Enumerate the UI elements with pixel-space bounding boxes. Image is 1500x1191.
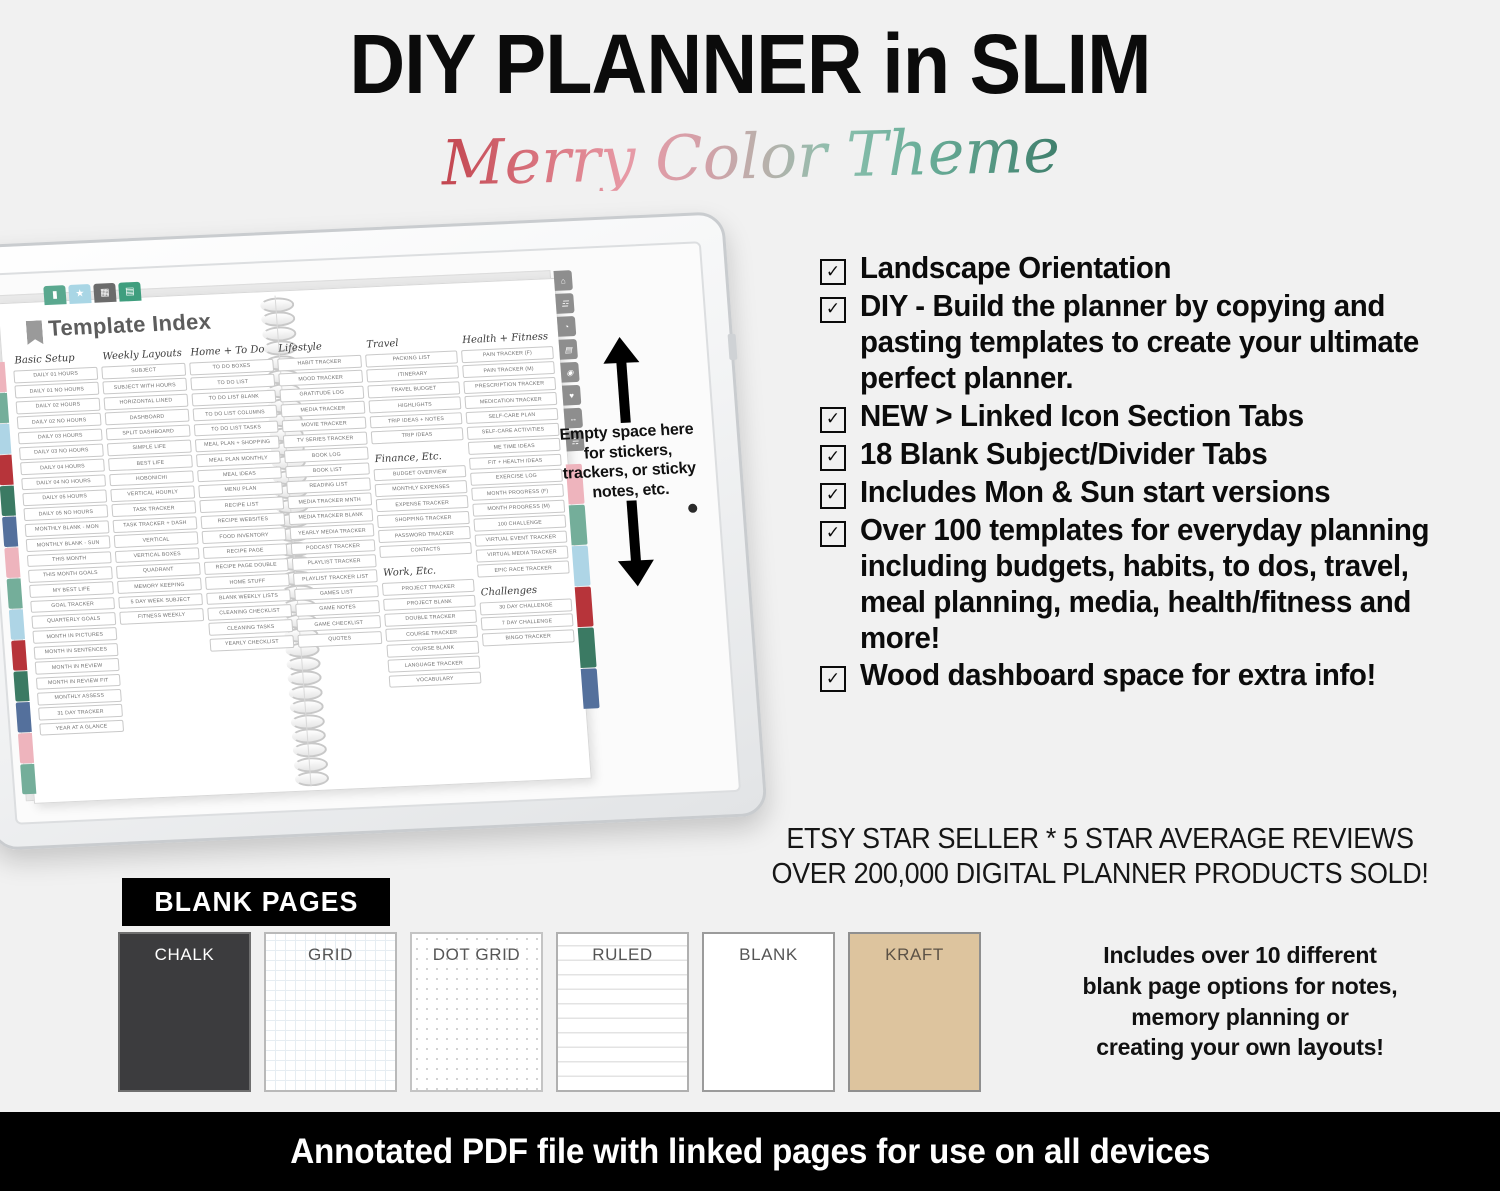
feature-row: ✓Wood dashboard space for extra info! xyxy=(820,657,1490,693)
index-column-heading: Work, Etc. xyxy=(383,564,474,579)
template-link[interactable]: PLAYLIST TRACKER xyxy=(292,554,377,571)
star-icon[interactable]: ★ xyxy=(68,284,91,304)
divider-tab[interactable] xyxy=(4,547,20,578)
template-link[interactable]: MY BEST LIFE xyxy=(29,581,114,598)
template-link[interactable]: TO DO BOXES xyxy=(189,359,274,376)
template-link[interactable]: 31 DAY TRACKER xyxy=(38,704,123,721)
feature-text: DIY - Build the planner by copying and p… xyxy=(860,288,1459,396)
tablet-button xyxy=(728,334,738,360)
coil-ring xyxy=(260,297,295,314)
divider-tab[interactable] xyxy=(0,424,11,455)
arrow-down-icon xyxy=(627,500,642,564)
template-link[interactable]: MEDIA TRACKER BLANK xyxy=(288,508,373,525)
template-link[interactable]: SHOPPING TRACKER xyxy=(377,511,470,528)
template-link[interactable]: MONTH PROGRESS (M) xyxy=(472,499,565,516)
blank-page-samples: CHALKGRIDDOT GRIDRULEDBLANKKRAFT xyxy=(118,932,981,1092)
feature-text: NEW > Linked Icon Section Tabs xyxy=(860,398,1304,434)
divider-tab[interactable] xyxy=(0,455,14,486)
template-link[interactable]: DAILY 04 HOURS xyxy=(20,459,105,476)
template-link[interactable]: PACKING LIST xyxy=(365,350,458,367)
calendar-icon[interactable]: ▤ xyxy=(118,282,141,302)
template-link[interactable]: ME TIME IDEAS xyxy=(468,438,561,455)
blank-page-label: DOT GRID xyxy=(412,945,541,965)
template-link[interactable]: THIS MONTH xyxy=(27,551,112,568)
template-link[interactable]: VOCABULARY xyxy=(389,671,482,688)
template-link[interactable]: DAILY 03 NO HOURS xyxy=(19,443,104,460)
template-link[interactable]: READING LIST xyxy=(286,477,371,494)
template-link[interactable]: HIGHLIGHTS xyxy=(368,396,461,413)
template-link[interactable]: EXERCISE LOG xyxy=(470,469,563,486)
page-subtitle: Merry Color Theme xyxy=(440,120,1060,195)
template-link[interactable]: THIS MONTH GOALS xyxy=(28,566,113,583)
template-link[interactable]: RECIPE LIST xyxy=(199,497,284,514)
bookmark-icon xyxy=(26,320,44,345)
divider-tab[interactable] xyxy=(18,733,34,764)
feature-row: ✓NEW > Linked Icon Section Tabs xyxy=(820,398,1490,434)
template-link[interactable]: PAIN TRACKER (F) xyxy=(461,346,554,363)
index-column-heading: Finance, Etc. xyxy=(374,450,465,465)
template-link[interactable]: TO DO LIST xyxy=(190,374,275,391)
template-link[interactable]: MENU PLAN xyxy=(198,481,283,498)
template-link[interactable]: DAILY 01 HOURS xyxy=(13,367,98,384)
template-link[interactable]: VERTICAL HOURLY xyxy=(110,485,195,502)
template-link[interactable]: MEDICATION TRACKER xyxy=(464,392,557,409)
index-column-heading: Travel xyxy=(366,335,457,350)
blank-pages-note-line: memory planning or xyxy=(990,1002,1490,1033)
template-link[interactable]: LANGUAGE TRACKER xyxy=(388,656,481,673)
divider-tab[interactable] xyxy=(9,609,25,640)
blank-pages-note: Includes over 10 differentblank page opt… xyxy=(990,940,1490,1063)
blank-pages-note-line: blank page options for notes, xyxy=(990,971,1490,1002)
index-title: Template Index xyxy=(47,309,212,342)
checkbox-checked-icon[interactable]: ✓ xyxy=(820,259,846,285)
feature-row: ✓Includes Mon & Sun start versions xyxy=(820,474,1490,510)
index-column-heading: Challenges xyxy=(480,583,571,598)
template-link[interactable]: VERTICAL BOXES xyxy=(115,547,200,564)
blank-page-label: RULED xyxy=(558,945,687,965)
template-link[interactable]: PASSWORD TRACKER xyxy=(378,526,471,543)
template-link[interactable]: PLAYLIST TRACKER LIST xyxy=(293,569,378,586)
checkbox-checked-icon[interactable]: ✓ xyxy=(820,483,846,509)
template-link[interactable]: CONTACTS xyxy=(379,541,472,558)
blank-pages-note-line: Includes over 10 different xyxy=(990,940,1490,971)
template-link[interactable]: MEDIA TRACKER MNTH xyxy=(287,493,372,510)
blank-page-card: CHALK xyxy=(118,932,251,1092)
template-link[interactable]: DAILY 04 NO HOURS xyxy=(21,474,106,491)
template-link[interactable]: QUOTES xyxy=(297,631,382,648)
page-title: DIY PLANNER in SLIM xyxy=(60,0,1440,106)
divider-tab[interactable] xyxy=(575,586,594,627)
template-link[interactable]: QUARTERLY GOALS xyxy=(31,612,116,629)
divider-tab[interactable] xyxy=(20,764,36,795)
template-link[interactable]: RECIPE WEBSITES xyxy=(200,512,285,529)
template-link[interactable]: MEDIA TRACKER xyxy=(281,401,366,418)
linked-icon-tabs[interactable]: ▮★▦▤ xyxy=(43,282,141,305)
coil-ring xyxy=(262,325,297,342)
etsy-line-1: ETSY STAR SELLER * 5 STAR AVERAGE REVIEW… xyxy=(728,822,1472,857)
feature-row: ✓DIY - Build the planner by copying and … xyxy=(820,288,1490,396)
template-link[interactable]: TO DO LIST COLUMNS xyxy=(193,405,278,422)
feature-checklist: ✓Landscape Orientation✓DIY - Build the p… xyxy=(820,250,1490,695)
template-link[interactable]: SUBJECT xyxy=(101,363,186,380)
template-link[interactable]: BOOK LIST xyxy=(285,462,370,479)
template-link[interactable]: GOAL TRACKER xyxy=(30,597,115,614)
blank-page-label: KRAFT xyxy=(850,945,979,965)
template-link[interactable]: MONTHLY BLANK - SUN xyxy=(26,535,111,552)
template-link[interactable]: PRESCRIPTION TRACKER xyxy=(463,377,556,394)
template-link[interactable]: VERTICAL xyxy=(114,531,199,548)
bottom-banner: Annotated PDF file with linked pages for… xyxy=(0,1112,1500,1191)
template-link[interactable]: MONTH IN PICTURES xyxy=(32,627,117,644)
blank-page-card: DOT GRID xyxy=(410,932,543,1092)
template-link[interactable]: BINGO TRACKER xyxy=(482,629,575,646)
coil-ring xyxy=(292,742,327,759)
feature-row: ✓18 Blank Subject/Divider Tabs xyxy=(820,436,1490,472)
template-link[interactable]: MONTH PROGRESS (F) xyxy=(471,484,564,501)
template-link[interactable]: HORIZONTAL LINED xyxy=(104,393,189,410)
clock-icon[interactable]: ◔ xyxy=(557,316,576,337)
template-link[interactable]: DOUBLE TRACKER xyxy=(384,610,477,627)
book-icon[interactable]: ▮ xyxy=(43,285,66,305)
template-link[interactable]: 5 DAY WEEK SUBJECT xyxy=(118,593,203,610)
etsy-credentials: ETSY STAR SELLER * 5 STAR AVERAGE REVIEW… xyxy=(700,822,1500,893)
listing-graphic: DIY PLANNER in SLIM Merry Color Theme ▮★… xyxy=(0,0,1500,1191)
index-column-heading: Basic Setup xyxy=(14,352,97,367)
template-link[interactable]: YEARLY MEDIA TRACKER xyxy=(290,523,375,540)
checkbox-checked-icon[interactable]: ✓ xyxy=(820,521,846,547)
checkbox-checked-icon[interactable]: ✓ xyxy=(820,407,846,433)
template-link[interactable]: GAME NOTES xyxy=(295,600,380,617)
template-link[interactable]: COURSE BLANK xyxy=(386,640,479,657)
index-column-heading: Health + Fitness xyxy=(462,331,553,346)
checkbox-checked-icon[interactable]: ✓ xyxy=(820,297,846,323)
template-link[interactable]: HOME STUFF xyxy=(205,573,290,590)
template-link[interactable]: SELF-CARE PLAN xyxy=(466,407,559,424)
template-link[interactable]: 30 DAY CHALLENGE xyxy=(480,598,573,615)
tablet-mockup: ▮★▦▤ Template Index ⌂☲◔▤◉♥↔☵ Basic Setup… xyxy=(0,228,760,868)
arrow-up-icon xyxy=(616,359,631,423)
template-link[interactable]: HOBONICHI xyxy=(109,470,194,487)
home-icon[interactable]: ⌂ xyxy=(553,270,572,291)
template-link[interactable]: TRIP IDEAS xyxy=(371,427,464,444)
template-link[interactable]: BUDGET OVERVIEW xyxy=(373,465,466,482)
blank-page-card: GRID xyxy=(264,932,397,1092)
template-link[interactable]: BEST LIFE xyxy=(108,455,193,472)
feature-text: Wood dashboard space for extra info! xyxy=(860,657,1376,693)
template-link[interactable]: FIT + HEALTH IDEAS xyxy=(469,453,562,470)
etsy-line-2: OVER 200,000 DIGITAL PLANNER PRODUCTS SO… xyxy=(728,857,1472,892)
blank-page-card: RULED xyxy=(556,932,689,1092)
empty-space-text: Empty space here for stickers, trackers,… xyxy=(551,419,707,504)
blank-page-label: BLANK xyxy=(704,945,833,965)
planner-spread: ▮★▦▤ Template Index ⌂☲◔▤◉♥↔☵ Basic Setup… xyxy=(0,278,592,804)
divider-tab[interactable] xyxy=(2,517,18,548)
template-link[interactable]: SELF-CARE ACTIVITIES xyxy=(467,423,560,440)
template-link[interactable]: SIMPLE LIFE xyxy=(107,439,192,456)
tablet-body: ▮★▦▤ Template Index ⌂☲◔▤◉♥↔☵ Basic Setup… xyxy=(0,211,768,851)
coil-ring xyxy=(294,771,329,788)
template-link[interactable]: MONTHLY BLANK - MON xyxy=(25,520,110,537)
template-link[interactable]: CLEANING TASKS xyxy=(208,619,293,636)
template-link[interactable]: TRAVEL BUDGET xyxy=(367,381,460,398)
index-column-heading: Lifestyle xyxy=(278,340,361,355)
template-link[interactable]: MONTHLY EXPENSES xyxy=(375,480,468,497)
blank-pages-badge-label: BLANK PAGES xyxy=(154,886,358,918)
template-link[interactable]: VIRTUAL EVENT TRACKER xyxy=(475,530,568,547)
blank-page-label: CHALK xyxy=(120,945,249,965)
empty-space-callout: Empty space here for stickers, trackers,… xyxy=(546,356,711,568)
blank-page-label: GRID xyxy=(266,945,395,965)
template-link[interactable]: SUBJECT WITH HOURS xyxy=(102,378,187,395)
grid-icon[interactable]: ▦ xyxy=(93,283,116,303)
template-link[interactable]: TASK TRACKER + DASH xyxy=(113,516,198,533)
template-link[interactable]: MONTH IN REVIEW xyxy=(35,658,120,675)
template-index-columns: Basic SetupDAILY 01 HOURSDAILY 01 NO HOU… xyxy=(12,331,580,738)
template-link[interactable]: FITNESS WEEKLY xyxy=(119,608,204,625)
template-link[interactable]: PAIN TRACKER (M) xyxy=(462,361,555,378)
coil-ring xyxy=(261,311,296,328)
template-link[interactable]: GRATITUDE LOG xyxy=(279,385,364,402)
template-link[interactable]: YEAR AT A GLANCE xyxy=(39,719,124,736)
utensils-icon[interactable]: ☲ xyxy=(555,293,574,314)
template-link[interactable]: GAMES LIST xyxy=(294,585,379,602)
checkbox-checked-icon[interactable]: ✓ xyxy=(820,666,846,692)
template-link[interactable]: MONTH IN REVIEW FIT xyxy=(36,673,121,690)
template-link[interactable]: GAME CHECKLIST xyxy=(296,615,381,632)
template-link[interactable]: DAILY 05 HOURS xyxy=(22,489,107,506)
blank-pages-badge: BLANK PAGES xyxy=(122,878,390,926)
blank-pages-note-line: creating your own layouts! xyxy=(990,1032,1490,1063)
template-link[interactable]: TO DO LIST TASKS xyxy=(194,420,279,437)
template-link[interactable]: 7 DAY CHALLENGE xyxy=(481,614,574,631)
template-link[interactable]: QUADRANT xyxy=(116,562,201,579)
template-link[interactable]: MEMORY KEEPING xyxy=(117,577,202,594)
blank-page-card: KRAFT xyxy=(848,932,981,1092)
divider-tab[interactable] xyxy=(11,640,27,671)
divider-tab[interactable] xyxy=(0,393,9,424)
template-link[interactable]: MOOD TRACKER xyxy=(278,370,363,387)
template-link[interactable]: PODCAST TRACKER xyxy=(291,539,376,556)
template-link[interactable]: PROJECT BLANK xyxy=(383,594,476,611)
feature-text: Landscape Orientation xyxy=(860,250,1171,286)
template-link[interactable]: COURSE TRACKER xyxy=(385,625,478,642)
divider-tab[interactable] xyxy=(0,486,16,517)
template-link[interactable]: DAILY 03 HOURS xyxy=(18,428,103,445)
feature-text: Over 100 templates for everyday planning… xyxy=(860,512,1459,656)
template-link[interactable]: MEAL PLAN + SHOPPING xyxy=(195,435,280,452)
template-link[interactable]: DASHBOARD xyxy=(105,409,190,426)
divider-tab[interactable] xyxy=(7,578,23,609)
index-column-heading: Home + To Do xyxy=(190,344,273,359)
template-link[interactable]: 100 CHALLENGE xyxy=(473,515,566,532)
template-link[interactable]: RECIPE PAGE DOUBLE xyxy=(204,558,289,575)
template-link[interactable]: TRIP IDEAS + NOTES xyxy=(370,412,463,429)
header: DIY PLANNER in SLIM Merry Color Theme xyxy=(0,0,1500,210)
index-column-heading: Weekly Layouts xyxy=(102,348,185,363)
feature-text: Includes Mon & Sun start versions xyxy=(860,474,1330,510)
template-link[interactable]: VIRTUAL MEDIA TRACKER xyxy=(476,545,569,562)
template-link[interactable]: MEAL PLAN MONTHLY xyxy=(196,451,281,468)
checkbox-checked-icon[interactable]: ✓ xyxy=(820,445,846,471)
blank-page-card: BLANK xyxy=(702,932,835,1092)
divider-tab[interactable] xyxy=(16,702,32,733)
bottom-banner-text: Annotated PDF file with linked pages for… xyxy=(290,1132,1210,1172)
divider-tab[interactable] xyxy=(581,668,600,709)
template-link[interactable]: DAILY 05 NO HOURS xyxy=(23,505,108,522)
divider-tab[interactable] xyxy=(0,362,7,393)
template-link[interactable]: SPLIT DASHBOARD xyxy=(106,424,191,441)
feature-row: ✓Landscape Orientation xyxy=(820,250,1490,286)
briefcase-icon[interactable]: ▤ xyxy=(559,339,578,360)
template-link[interactable]: BLANK WEEKLY LISTS xyxy=(206,589,291,606)
template-link[interactable]: DAILY 02 HOURS xyxy=(16,397,101,414)
template-link[interactable]: HABIT TRACKER xyxy=(277,355,362,372)
template-link[interactable]: MONTHLY ASSESS xyxy=(37,689,122,706)
template-link[interactable]: TV SERIES TRACKER xyxy=(283,431,368,448)
divider-tab[interactable] xyxy=(578,627,597,668)
coil-ring xyxy=(291,728,326,745)
template-link[interactable]: MONTH IN SENTENCES xyxy=(34,643,119,660)
template-link[interactable]: TASK TRACKER xyxy=(111,501,196,518)
template-link[interactable]: TO DO LIST BLANK xyxy=(191,389,276,406)
coil-ring xyxy=(293,756,328,773)
template-link[interactable]: DAILY 01 NO HOURS xyxy=(14,382,99,399)
template-link[interactable]: RECIPE PAGE xyxy=(203,543,288,560)
template-link[interactable]: CLEANING CHECKLIST xyxy=(207,604,292,621)
divider-tab[interactable] xyxy=(13,671,29,702)
template-link[interactable]: PROJECT TRACKER xyxy=(382,579,475,596)
template-link[interactable]: YEARLY CHECKLIST xyxy=(209,635,294,652)
template-link[interactable]: BOOK LOG xyxy=(284,447,369,464)
template-link[interactable]: EPIC RACE TRACKER xyxy=(477,561,570,578)
template-link[interactable]: DAILY 02 NO HOURS xyxy=(17,413,102,430)
feature-text: 18 Blank Subject/Divider Tabs xyxy=(860,436,1267,472)
feature-row: ✓Over 100 templates for everyday plannin… xyxy=(820,512,1490,656)
template-link[interactable]: MOVIE TRACKER xyxy=(282,416,367,433)
template-link[interactable]: FOOD INVENTORY xyxy=(202,527,287,544)
template-link[interactable]: ITINERARY xyxy=(366,366,459,383)
template-link[interactable]: MEAL IDEAS xyxy=(197,466,282,483)
template-link[interactable]: EXPENSE TRACKER xyxy=(376,495,469,512)
